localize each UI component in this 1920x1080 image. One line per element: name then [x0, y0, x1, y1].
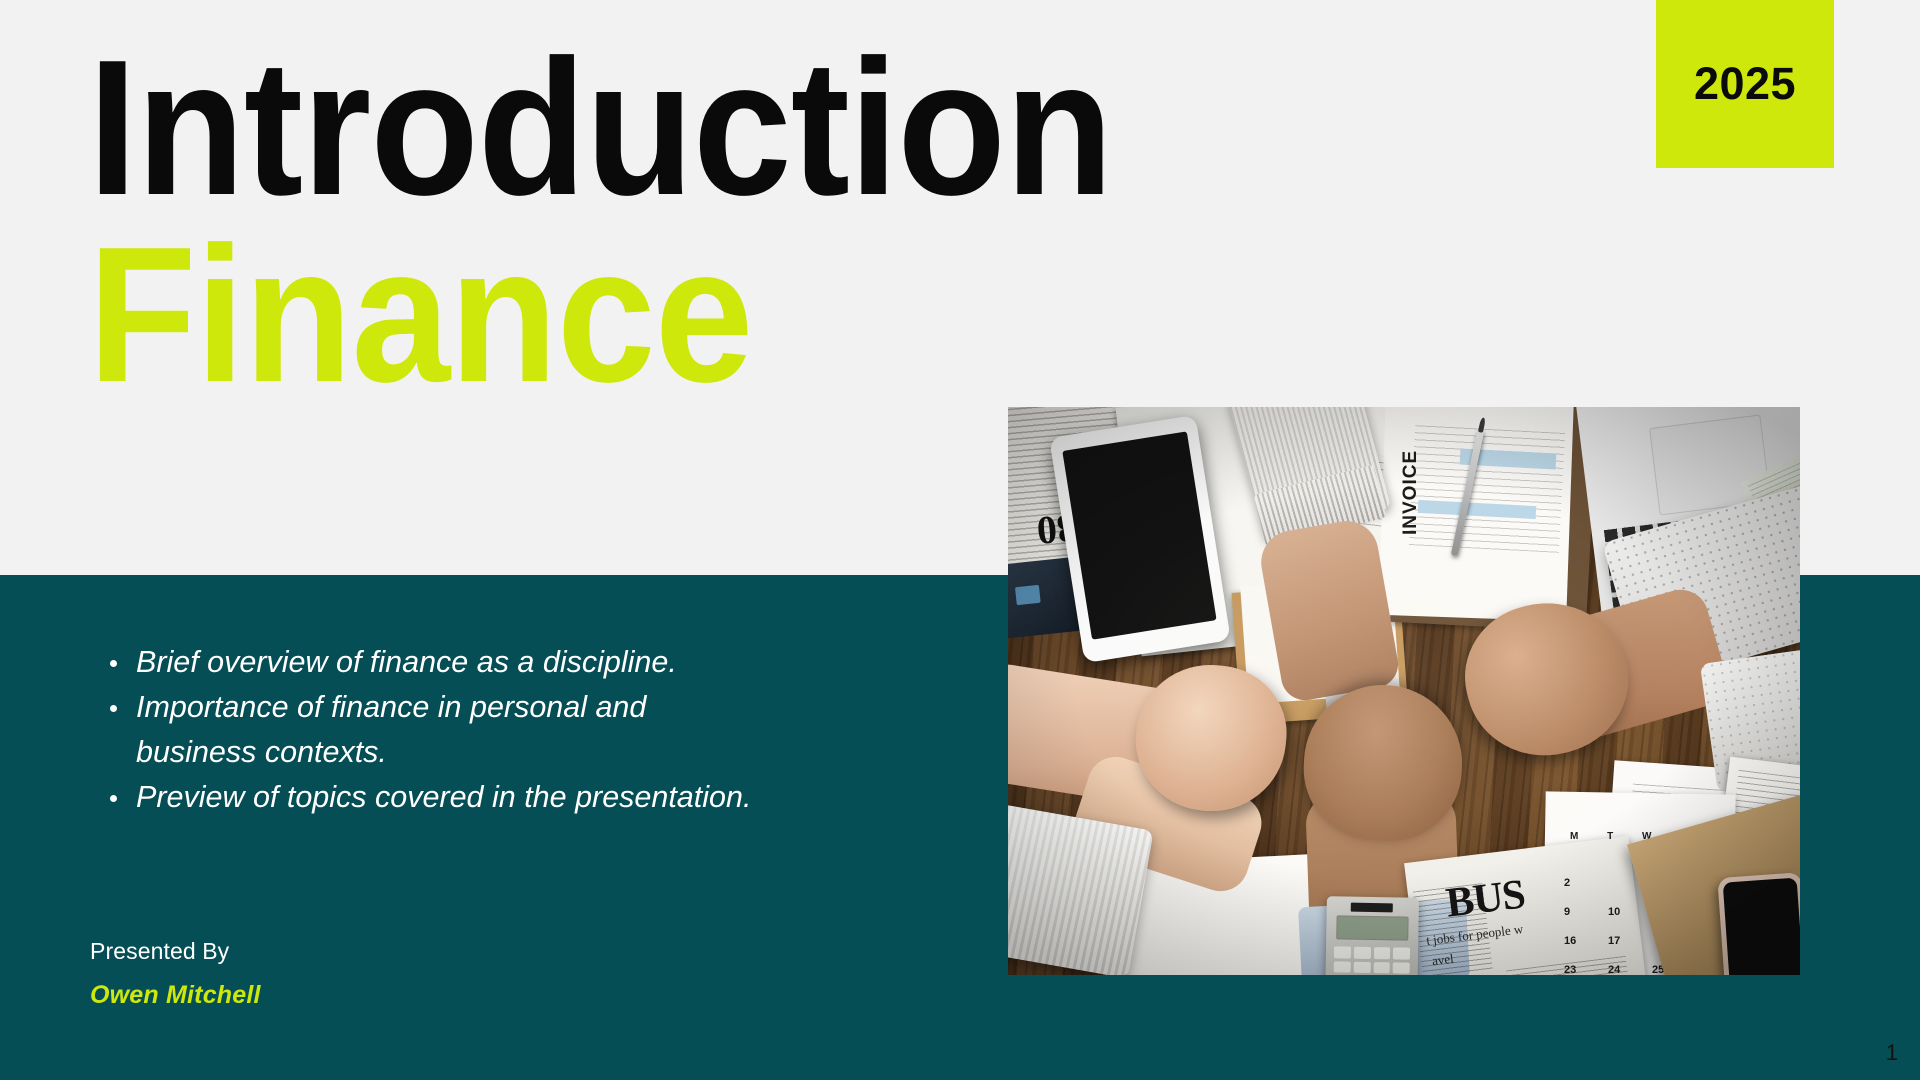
calendar-day: 24: [1608, 964, 1652, 975]
smartphone-screen: [1723, 878, 1800, 975]
list-item: Brief overview of finance as a disciplin…: [96, 640, 756, 685]
presenter-block: Presented By Owen Mitchell: [90, 938, 261, 1010]
page-title: Introduction Finance: [88, 38, 1202, 405]
year-badge-label: 2025: [1694, 58, 1796, 110]
slide-root: 2025 Introduction Finance Brief overview…: [0, 0, 1920, 1080]
calendar-day: 17: [1608, 935, 1652, 947]
invoice-table-rows: [1409, 425, 1565, 553]
newspaper-headline: BUS: [1443, 870, 1527, 927]
newspaper-subline-2: avel: [1431, 951, 1454, 970]
calendar-day: 23: [1564, 964, 1608, 975]
calculator: [1325, 896, 1419, 975]
calendar-day: 16: [1564, 935, 1608, 947]
presenter-name: Owen Mitchell: [90, 981, 261, 1010]
title-line-1: Introduction: [88, 38, 1113, 217]
calculator-screen: [1336, 915, 1408, 940]
bullet-list: Brief overview of finance as a disciplin…: [96, 640, 756, 820]
title-line-2: Finance: [88, 225, 1113, 404]
list-item: Preview of topics covered in the present…: [96, 775, 756, 820]
invoice-label: INVOICE: [1400, 450, 1422, 535]
smartphone: [1717, 872, 1800, 975]
calculator-solar-panel: [1351, 903, 1393, 913]
list-item: Importance of finance in personal and bu…: [96, 685, 756, 775]
hero-photo: 80 al plan INVOICE: [1008, 407, 1800, 975]
presented-by-label: Presented By: [90, 938, 261, 965]
calendar-day: 2: [1564, 877, 1608, 889]
year-badge: 2025: [1656, 0, 1834, 168]
arm-bottom-left-cuff: [1008, 801, 1154, 975]
calendar-day: 9: [1564, 906, 1608, 918]
calculator-keys: [1333, 946, 1410, 975]
page-number: 1: [1886, 1040, 1898, 1066]
tablet-screen: [1062, 431, 1216, 639]
